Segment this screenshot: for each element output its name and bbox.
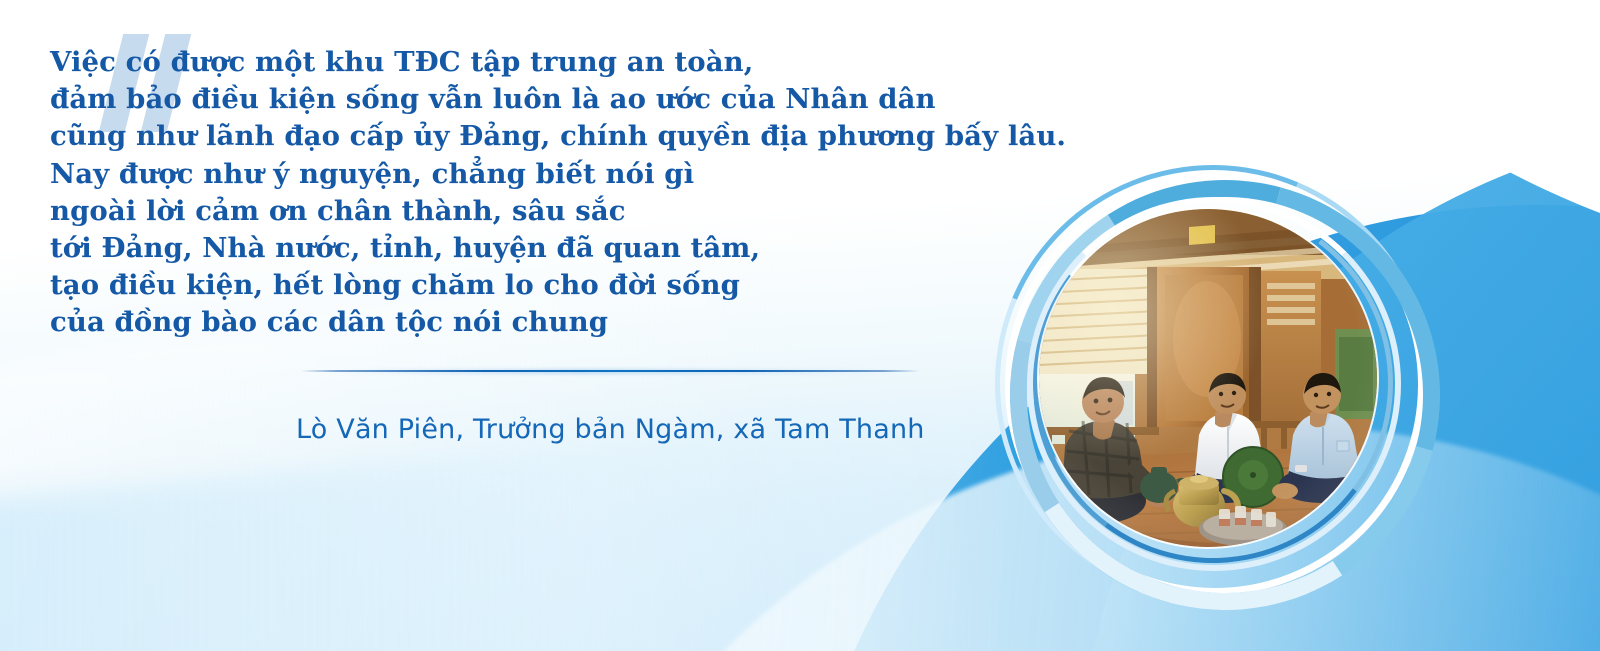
quote-line: tới Đảng, Nhà nước, tỉnh, huyện đã quan … bbox=[50, 230, 1110, 267]
photo-image: Ba người đàn ông ngồi trò chuyện trên sà… bbox=[1039, 209, 1377, 547]
quote-line: đảm bảo điều kiện sống vẫn luôn là ao ướ… bbox=[50, 81, 1110, 118]
quote-text: Việc có được một khu TĐC tập trung an to… bbox=[50, 44, 1110, 342]
quote-line: ngoài lời cảm ơn chân thành, sâu sắc bbox=[50, 193, 1110, 230]
quote-banner: Việc có được một khu TĐC tập trung an to… bbox=[0, 0, 1600, 651]
attribution-text: Lò Văn Piên, Trưởng bản Ngàm, xã Tam Tha… bbox=[296, 414, 925, 445]
divider-rule bbox=[300, 369, 920, 373]
quote-line: Việc có được một khu TĐC tập trung an to… bbox=[50, 44, 1110, 81]
quote-line: tạo điều kiện, hết lòng chăm lo cho đời … bbox=[50, 267, 1110, 304]
quote-line: cũng như lãnh đạo cấp ủy Đảng, chính quy… bbox=[50, 118, 1110, 155]
quote-line: Nay được như ý nguyện, chẳng biết nói gì bbox=[50, 156, 1110, 193]
quote-block: Việc có được một khu TĐC tập trung an to… bbox=[50, 44, 1110, 342]
quote-line: của đồng bào các dân tộc nói chung bbox=[50, 304, 1110, 341]
photo-medallion: Ba người đàn ông ngồi trò chuyện trên sà… bbox=[993, 163, 1423, 593]
